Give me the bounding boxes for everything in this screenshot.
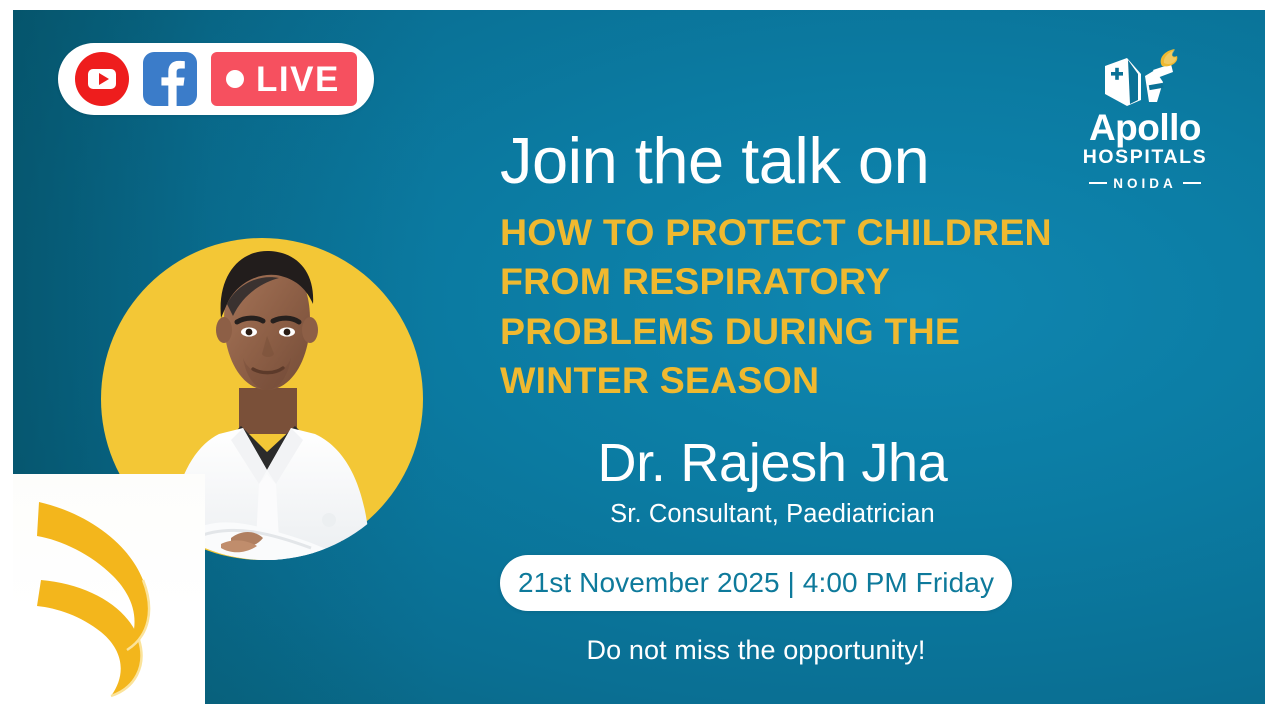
session-headline: HOW TO PROTECT CHILDREN FROM RESPIRATORY… xyxy=(500,208,1140,405)
intro-heading: Join the talk on xyxy=(500,128,1140,194)
headline-line-1: HOW TO PROTECT CHILDREN xyxy=(500,208,1140,257)
headline-line-4: WINTER SEASON xyxy=(500,356,1140,405)
speaker-name: Dr. Rajesh Jha xyxy=(500,435,1045,492)
headline-line-2: FROM RESPIRATORY xyxy=(500,257,1140,306)
live-dot-icon xyxy=(226,70,244,88)
live-label: LIVE xyxy=(256,62,340,97)
schedule-pill: 21st November 2025 | 4:00 PM Friday xyxy=(500,555,1012,611)
facebook-icon[interactable] xyxy=(143,52,197,106)
speaker-block: Dr. Rajesh Jha Sr. Consultant, Paediatri… xyxy=(500,435,1045,667)
live-indicator: LIVE xyxy=(211,52,357,106)
poster-canvas: LIVE xyxy=(0,0,1280,720)
closing-tagline: Do not miss the opportunity! xyxy=(500,635,1012,666)
apollo-torch-icon xyxy=(1070,48,1220,112)
headline-line-3: PROBLEMS DURING THE xyxy=(500,307,1140,356)
speaker-role: Sr. Consultant, Paediatrician xyxy=(500,500,1045,529)
youtube-icon[interactable] xyxy=(75,52,129,106)
rule-right xyxy=(1183,182,1201,184)
apollo-flame-mark xyxy=(31,484,213,698)
poster-content: Join the talk on HOW TO PROTECT CHILDREN… xyxy=(500,128,1140,666)
promo-poster: LIVE xyxy=(13,10,1265,704)
play-triangle-icon xyxy=(99,73,109,85)
youtube-play-screen xyxy=(88,69,116,89)
live-stream-badge[interactable]: LIVE xyxy=(58,43,374,115)
